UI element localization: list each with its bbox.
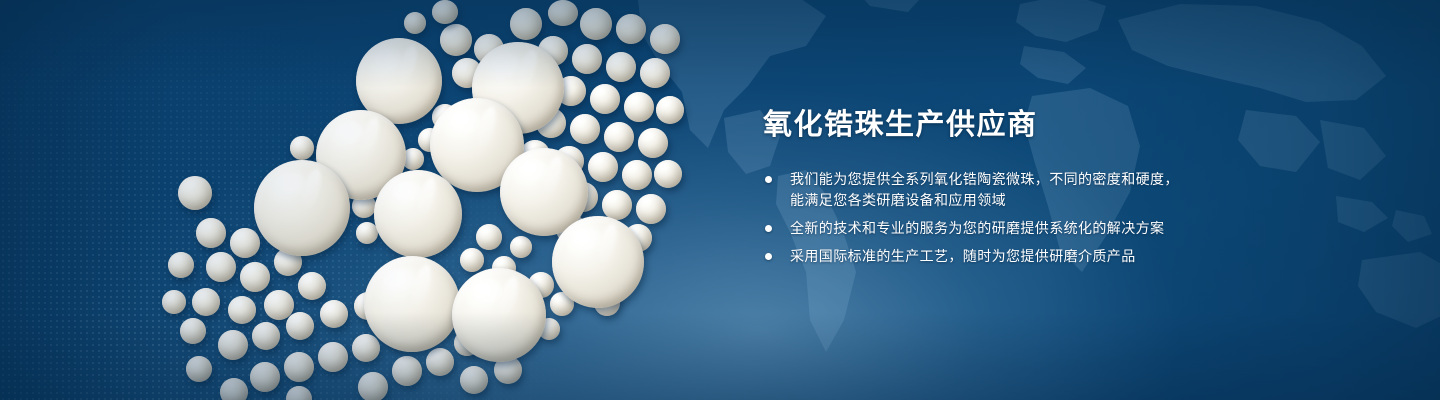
list-item-line: 能满足您各类研磨设备和应用领域 — [790, 190, 1323, 211]
bullet-dot-icon — [765, 176, 772, 183]
list-item-line: 全新的技术和专业的服务为您的研磨提供系统化的解决方案 — [790, 218, 1323, 239]
feature-list: 我们能为您提供全系列氧化锆陶瓷微珠，不同的密度和硬度， 能满足您各类研磨设备和应… — [763, 169, 1323, 267]
list-item-line: 我们能为您提供全系列氧化锆陶瓷微珠，不同的密度和硬度， — [790, 169, 1323, 190]
bullet-dot-icon — [765, 253, 772, 260]
page-title: 氧化锆珠生产供应商 — [763, 108, 1323, 143]
hero-banner: 氧化锆珠生产供应商 我们能为您提供全系列氧化锆陶瓷微珠，不同的密度和硬度， 能满… — [0, 0, 1440, 400]
list-item: 全新的技术和专业的服务为您的研磨提供系统化的解决方案 — [763, 218, 1323, 239]
list-item-line: 采用国际标准的生产工艺，随时为您提供研磨介质产品 — [790, 246, 1323, 267]
list-item: 采用国际标准的生产工艺，随时为您提供研磨介质产品 — [763, 246, 1323, 267]
banner-copy: 氧化锆珠生产供应商 我们能为您提供全系列氧化锆陶瓷微珠，不同的密度和硬度， 能满… — [763, 108, 1323, 274]
bullet-dot-icon — [765, 225, 772, 232]
list-item: 我们能为您提供全系列氧化锆陶瓷微珠，不同的密度和硬度， 能满足您各类研磨设备和应… — [763, 169, 1323, 211]
